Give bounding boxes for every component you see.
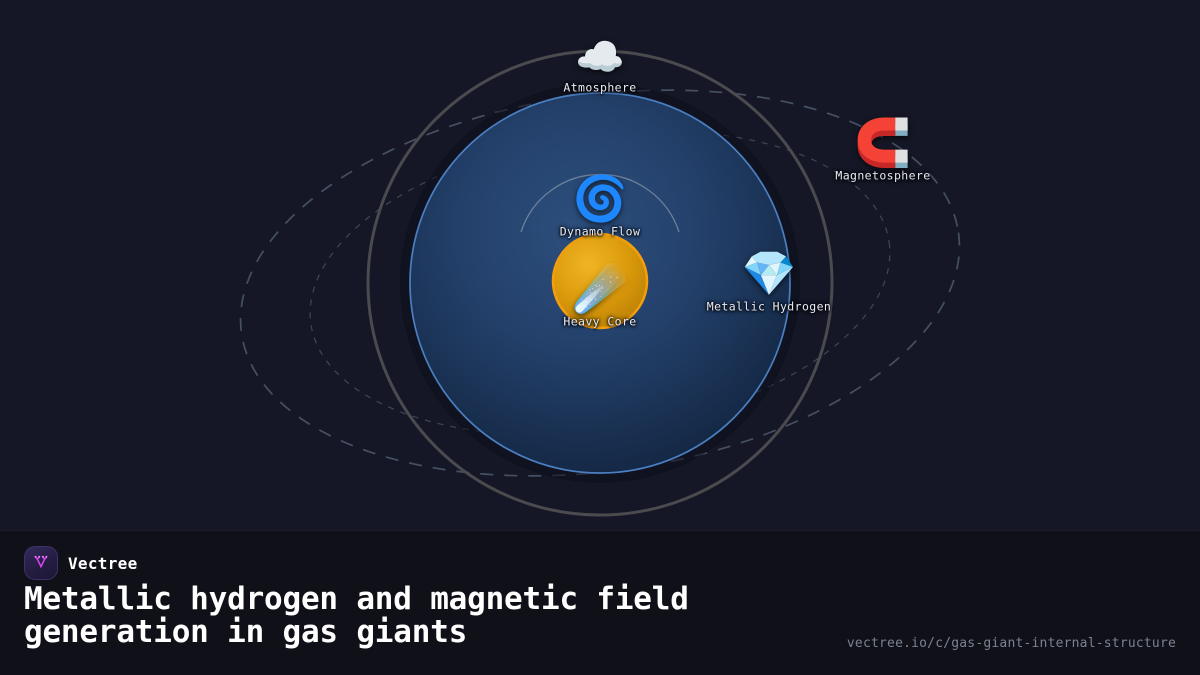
diagram-node-label: Metallic Hydrogen (707, 300, 832, 314)
diagram-node-dynamo-flow[interactable]: 🌀 Dynamo Flow (560, 178, 641, 239)
gas-giant-diagram: ☁️ Atmosphere 🧲 Magnetosphere 🌀 Dynamo F… (0, 0, 1200, 530)
page-title: Metallic hydrogen and magnetic field gen… (24, 583, 854, 650)
diagram-node-magnetosphere[interactable]: 🧲 Magnetosphere (835, 120, 930, 183)
brand-lockup[interactable]: Vectree (24, 546, 138, 580)
footer-bar: Vectree Metallic hydrogen and magnetic f… (0, 530, 1200, 675)
brand-name: Vectree (68, 554, 138, 573)
cyclone-icon: 🌀 (573, 178, 628, 222)
diagram-node-label: Atmosphere (563, 81, 636, 95)
diagram-node-atmosphere[interactable]: ☁️ Atmosphere (563, 38, 636, 95)
comet-icon: ☄️ (573, 268, 628, 312)
diagram-node-metallic-hydrogen[interactable]: 💎 Metallic Hydrogen (707, 253, 832, 314)
diagram-node-label: Magnetosphere (835, 169, 930, 183)
diagram-node-heavy-core[interactable]: ☄️ Heavy Core (563, 268, 636, 329)
screenshot-root: ☁️ Atmosphere 🧲 Magnetosphere 🌀 Dynamo F… (0, 0, 1200, 675)
vectree-logo-icon (24, 546, 58, 580)
diagram-node-label: Heavy Core (563, 315, 636, 329)
source-url: vectree.io/c/gas-giant-internal-structur… (847, 636, 1176, 651)
magnet-icon: 🧲 (854, 120, 911, 166)
diagram-node-label: Dynamo Flow (560, 225, 641, 239)
gem-icon: 💎 (742, 253, 797, 297)
cloud-icon: ☁️ (575, 38, 625, 78)
